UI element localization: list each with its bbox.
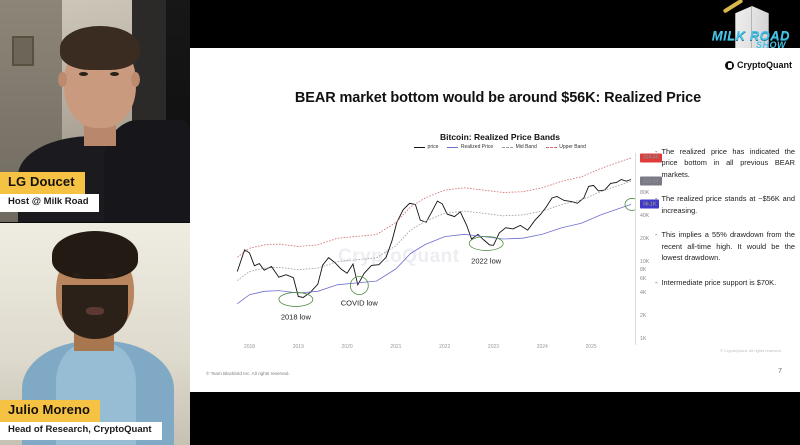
annotation-ellipse <box>279 292 313 306</box>
legend-swatch-icon <box>546 147 557 148</box>
background-picture-frame <box>12 36 34 66</box>
legend-label: Upper Band <box>559 144 586 150</box>
bullet-item: -Intermediate price support is $70K. <box>655 277 795 289</box>
y-tick-label: 80K <box>640 190 649 196</box>
participant-name: LG Doucet <box>0 172 85 194</box>
chart-plot-area: 2018 lowCOVID low2022 low <box>230 153 635 343</box>
x-tick-label: 2020 <box>342 344 353 350</box>
x-tick-label: 2023 <box>488 344 499 350</box>
x-tick-label: 2019 <box>293 344 304 350</box>
participant-jacket-shoulder <box>104 120 190 222</box>
cryptoquant-brand: CryptoQuant <box>725 60 792 70</box>
annotation-label: 2022 low <box>471 256 502 265</box>
x-tick-label: 2018 <box>244 344 255 350</box>
x-tick-label: 2024 <box>537 344 548 350</box>
letterbox-bottom <box>190 392 800 445</box>
screen-root: LG Doucet Host @ Milk Road Julio Moreno … <box>0 0 800 445</box>
bullet-marker-icon: - <box>655 277 658 289</box>
bullet-marker-icon: - <box>655 229 658 263</box>
participant-hair <box>52 231 138 279</box>
bullet-item: -This implies a 55% drawdown from the re… <box>655 229 795 263</box>
nameplate-host: LG Doucet Host @ Milk Road <box>0 172 99 212</box>
presentation-slide: CryptoQuant BEAR market bottom would be … <box>190 48 800 392</box>
x-tick-label: 2022 <box>439 344 450 350</box>
legend-label: Mid Band <box>516 144 537 150</box>
slide-title: BEAR market bottom would be around $56K:… <box>238 90 758 106</box>
legend-item-upper-band: Upper Band <box>546 144 586 150</box>
participant-mouth <box>86 307 104 315</box>
annotation-label: COVID low <box>341 298 379 307</box>
legend-label: Realized Price <box>461 144 493 150</box>
legend-label: price <box>428 144 439 150</box>
x-tick-label: 2021 <box>390 344 401 350</box>
y-tick-label: 1K <box>640 336 646 342</box>
bullet-item: -The realized price has indicated the pr… <box>655 146 795 180</box>
bullet-marker-icon: - <box>655 146 658 180</box>
participant-eye-right <box>106 273 115 277</box>
realized-price-bands-chart: 2018 lowCOVID low2022 low <box>230 153 635 343</box>
y-tick-label: 8K <box>640 267 646 273</box>
slide-footer: © Team Blackbird Inc. All rights reserve… <box>206 371 290 376</box>
cryptoquant-brand-label: CryptoQuant <box>737 60 792 70</box>
bullet-item: -The realized price stands at ~$56K and … <box>655 193 795 216</box>
participant-ear-left <box>58 72 67 87</box>
participant-role: Head of Research, CryptoQuant <box>0 422 162 440</box>
participant-eye-right <box>110 72 119 76</box>
slide-page-number: 7 <box>778 368 782 375</box>
bullet-text: This implies a 55% drawdown from the rec… <box>662 229 796 263</box>
participant-eye-left <box>72 273 81 277</box>
legend-item-realized-price: Realized Price <box>447 144 493 150</box>
participant-role: Host @ Milk Road <box>0 194 99 212</box>
series-line-price <box>237 180 631 298</box>
nameplate-guest: Julio Moreno Head of Research, CryptoQua… <box>0 400 162 440</box>
chart-legend: price Realized Price Mid Band Upper Band <box>340 144 660 150</box>
x-axis-tick-labels: 20182019202020212022202320242025 <box>230 344 635 358</box>
video-participants-column: LG Doucet Host @ Milk Road Julio Moreno … <box>0 0 190 445</box>
y-tick-label: 10K <box>640 259 649 265</box>
bullet-text: Intermediate price support is $70K. <box>662 277 777 289</box>
screen-share-region: MILK ROAD SHOW CryptoQuant BEAR market b… <box>190 0 800 445</box>
annotation-label: 2018 low <box>281 312 312 321</box>
participant-ear-right <box>131 72 140 87</box>
y-tick-label: 6K <box>640 276 646 282</box>
y-tick-label: 20K <box>640 236 649 242</box>
chart-title: Bitcoin: Realized Price Bands <box>340 132 660 142</box>
legend-swatch-icon <box>414 147 425 148</box>
y-tick-label: 40K <box>640 213 649 219</box>
participant-hair <box>60 26 140 70</box>
legend-item-price: price <box>414 144 438 150</box>
y-tick-label: 4K <box>640 290 646 296</box>
legend-swatch-icon <box>447 147 458 148</box>
legend-swatch-icon <box>502 147 513 148</box>
cryptoquant-logo-icon <box>725 61 734 70</box>
bullet-text: The realized price has indicated the pri… <box>662 146 796 180</box>
bullet-marker-icon: - <box>655 193 658 216</box>
annotation-ellipse <box>469 236 503 250</box>
legend-item-mid-band: Mid Band <box>502 144 537 150</box>
x-tick-label: 2025 <box>586 344 597 350</box>
bullet-text: The realized price stands at ~$56K and i… <box>662 193 796 216</box>
annotation-ellipse <box>350 276 368 294</box>
chart-credit: © CryptoQuant. All rights reserved. <box>720 348 782 353</box>
y-tick-label: 2K <box>640 313 646 319</box>
participant-name: Julio Moreno <box>0 400 100 422</box>
slide-bullet-list: -The realized price has indicated the pr… <box>655 146 795 301</box>
series-line-mid-band <box>237 181 631 280</box>
participant-eye-left <box>79 72 88 76</box>
